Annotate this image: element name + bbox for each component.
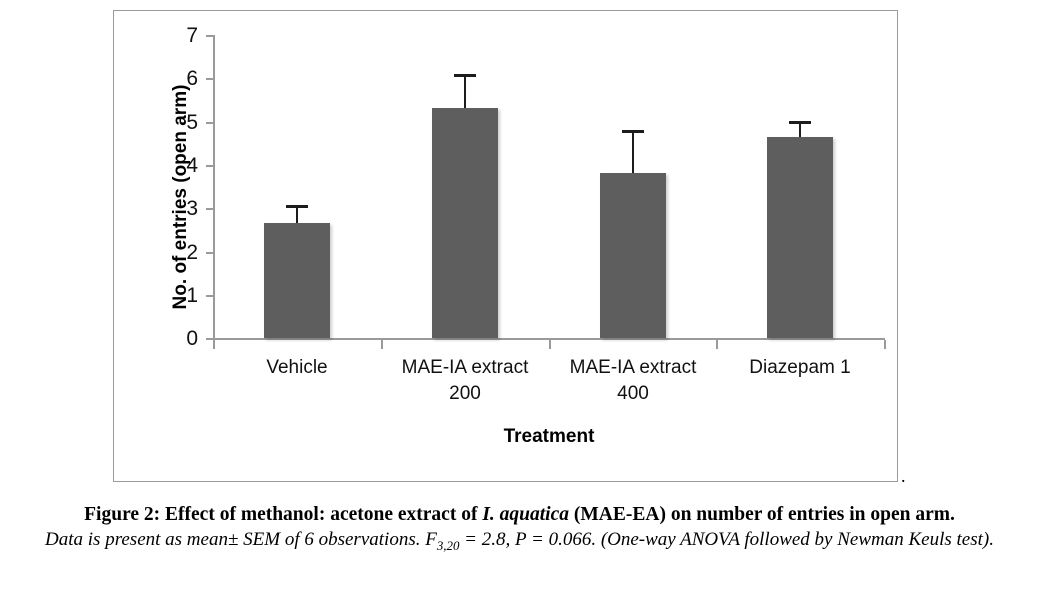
y-tick-2 (206, 252, 214, 254)
trailing-period: . (901, 466, 906, 487)
x-tick-3 (716, 340, 718, 349)
y-tick-1 (206, 295, 214, 297)
bar-diazepam-1[interactable] (767, 137, 833, 338)
bar-mae-ia-extract-200[interactable] (432, 108, 498, 338)
x-category-label-vehicle-line1: Vehicle (213, 355, 381, 381)
figure-caption-label: Figure 2: (84, 504, 160, 525)
figure-caption-stat-subscript: 3,20 (437, 538, 460, 553)
figure-caption: Figure 2: Effect of methanol: acetone ex… (0, 503, 1039, 558)
error-cap-vehicle (286, 205, 308, 208)
figure-caption-stat-symbol: F (425, 529, 437, 550)
error-bar-mae-ia-extract-200 (464, 74, 466, 108)
y-tick-3 (206, 208, 214, 210)
x-tick-4 (884, 340, 886, 349)
x-category-label-mae-ia-extract-200-line2: 200 (381, 381, 549, 407)
figure-caption-line1-pre: Effect of methanol: acetone extract of (160, 504, 482, 525)
figure-caption-species: I. aquatica (482, 504, 569, 525)
y-tick-7 (206, 35, 214, 37)
chart-frame: 7 6 5 4 3 2 1 0 Vehicle (113, 10, 898, 482)
figure-caption-body: Data is present as mean± SEM of 6 observ… (0, 527, 1039, 558)
y-tick-6 (206, 78, 214, 80)
x-category-label-mae-ia-extract-200: MAE-IA extract 200 (381, 355, 549, 407)
x-tick-1 (381, 340, 383, 349)
y-tick-5 (206, 122, 214, 124)
x-category-label-diazepam-1: Diazepam 1 (716, 355, 884, 381)
x-tick-2 (549, 340, 551, 349)
plot-area: 7 6 5 4 3 2 1 0 Vehicle (114, 11, 899, 483)
y-tick-4 (206, 165, 214, 167)
figure-caption-body-pre: Data is present as mean± SEM of 6 observ… (45, 529, 425, 550)
y-tick-label-0: 0 (172, 328, 198, 349)
x-category-label-mae-ia-extract-400-line2: 400 (549, 381, 717, 407)
error-bar-mae-ia-extract-400 (632, 130, 634, 173)
x-category-label-mae-ia-extract-400-line1: MAE-IA extract (549, 355, 717, 381)
x-category-label-vehicle: Vehicle (213, 355, 381, 381)
figure-caption-title: Figure 2: Effect of methanol: acetone ex… (0, 503, 1039, 527)
figure-caption-line1-post: (MAE-EA) on number of entries in open ar… (569, 504, 955, 525)
y-tick-label-7: 7 (172, 25, 198, 46)
x-category-label-diazepam-1-line1: Diazepam 1 (716, 355, 884, 381)
x-category-label-mae-ia-extract-400: MAE-IA extract 400 (549, 355, 717, 407)
bar-mae-ia-extract-400[interactable] (600, 173, 666, 338)
error-cap-diazepam-1 (789, 121, 811, 124)
x-tick-0 (213, 340, 215, 349)
figure-caption-body-post: = 2.8, P = 0.066. (One-way ANOVA followe… (459, 529, 994, 550)
y-axis-line (213, 35, 215, 339)
error-cap-mae-ia-extract-200 (454, 74, 476, 77)
y-axis-title: No. of entries (open arm) (170, 67, 192, 327)
x-category-label-mae-ia-extract-200-line1: MAE-IA extract (381, 355, 549, 381)
bar-vehicle[interactable] (264, 223, 330, 338)
x-axis-title: Treatment (213, 426, 885, 448)
error-cap-mae-ia-extract-400 (622, 130, 644, 133)
